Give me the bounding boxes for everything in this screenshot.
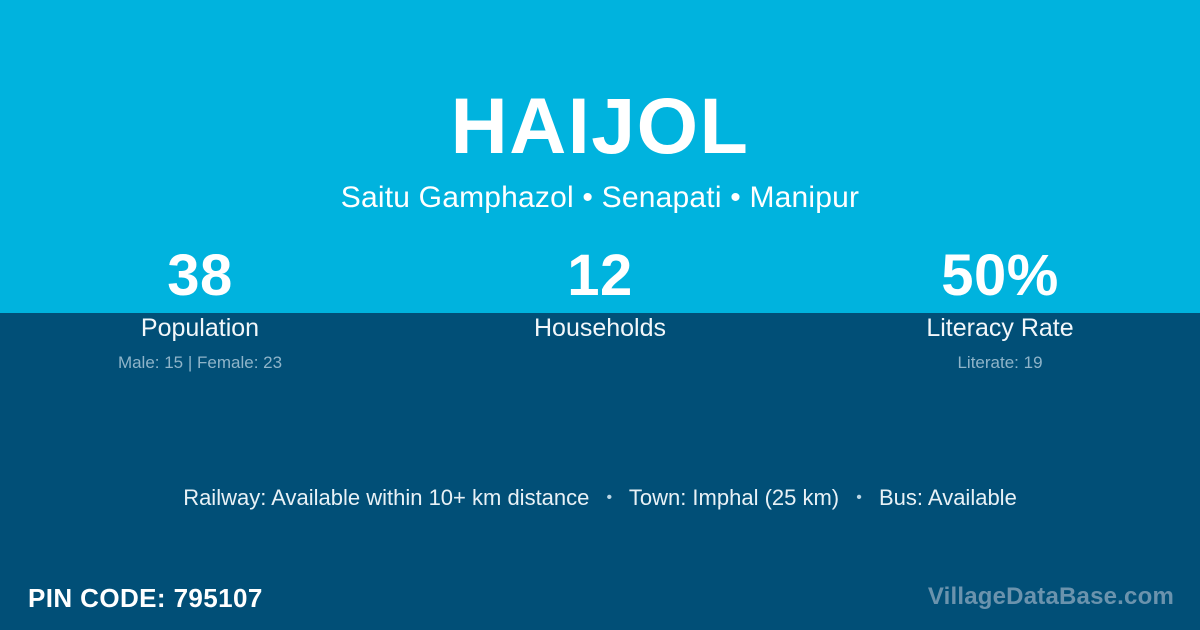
stat-literacy-sub: Literate: 19 <box>800 352 1200 373</box>
stat-literacy-label: Literacy Rate <box>800 313 1200 344</box>
infra-item-bus: Bus: Available <box>879 485 1017 510</box>
card-footer: PIN CODE: 795107 VillageDataBase.com <box>0 560 1200 630</box>
stat-population: 38 Population Male: 15 | Female: 23 <box>0 243 400 373</box>
page-title: HAIJOL <box>0 84 1200 168</box>
stats-row: 38 Population Male: 15 | Female: 23 12 H… <box>0 243 1200 373</box>
breadcrumb: Saitu Gamphazol • Senapati • Manipur <box>0 180 1200 216</box>
stat-households-label: Households <box>400 313 800 344</box>
card-header: HAIJOL Saitu Gamphazol • Senapati • Mani… <box>0 0 1200 216</box>
brand-watermark: VillageDataBase.com <box>928 582 1174 612</box>
infra-item-railway: Railway: Available within 10+ km distanc… <box>183 485 589 510</box>
stat-households-value: 12 <box>400 243 800 309</box>
infra-separator-icon: • <box>845 483 873 513</box>
village-info-card: HAIJOL Saitu Gamphazol • Senapati • Mani… <box>0 0 1200 630</box>
stat-literacy-value: 50% <box>800 243 1200 309</box>
stat-households-sub <box>400 352 800 373</box>
stat-population-sub: Male: 15 | Female: 23 <box>0 352 400 373</box>
stat-literacy: 50% Literacy Rate Literate: 19 <box>800 243 1200 373</box>
stat-population-label: Population <box>0 313 400 344</box>
stat-households: 12 Households <box>400 243 800 373</box>
stat-population-value: 38 <box>0 243 400 309</box>
infrastructure-line: Railway: Available within 10+ km distanc… <box>0 483 1200 513</box>
infra-separator-icon: • <box>596 483 624 513</box>
infra-item-town: Town: Imphal (25 km) <box>629 485 839 510</box>
pin-code: PIN CODE: 795107 <box>28 582 263 614</box>
